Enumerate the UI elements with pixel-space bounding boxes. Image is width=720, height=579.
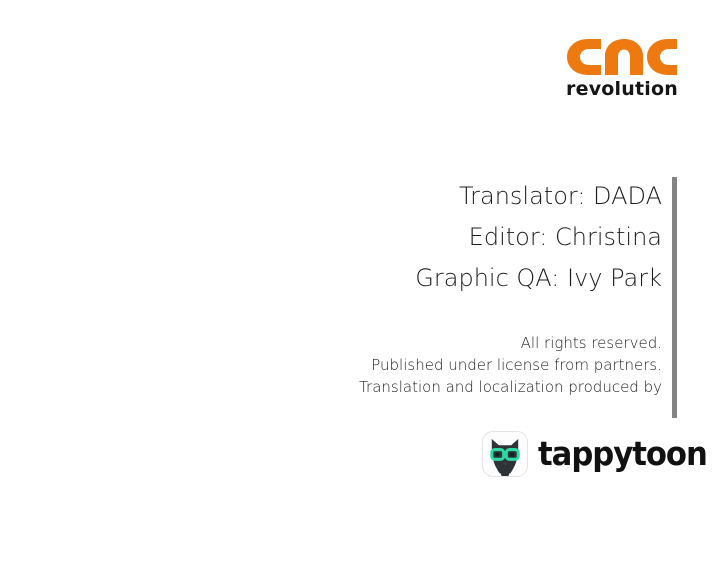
- notice-line-rights: All rights reserved.: [160, 332, 662, 354]
- notice-line-producer: Translation and localization produced by: [160, 376, 662, 398]
- tappytoon-cat-logo-icon: [482, 431, 528, 477]
- credit-line-editor: Editor: Christina: [200, 217, 662, 258]
- credits-block: Translator: DADA Editor: Christina Graph…: [200, 176, 662, 299]
- credits-page: revolution Translator: DADA Editor: Chri…: [0, 0, 720, 579]
- tappytoon-wordmark: tappytoon: [538, 436, 707, 472]
- cnc-logo-icon: [566, 38, 678, 76]
- credit-line-translator: Translator: DADA: [200, 176, 662, 217]
- publisher-subtitle: revolution: [566, 78, 678, 100]
- rights-notice-block: All rights reserved. Published under lic…: [160, 332, 662, 398]
- publisher-logo: revolution: [566, 38, 678, 104]
- vertical-rule: [672, 177, 677, 418]
- tappytoon-brand-lockup: tappytoon: [482, 431, 720, 477]
- notice-line-license: Published under license from partners.: [160, 354, 662, 376]
- credit-line-graphic-qa: Graphic QA: Ivy Park: [200, 258, 662, 299]
